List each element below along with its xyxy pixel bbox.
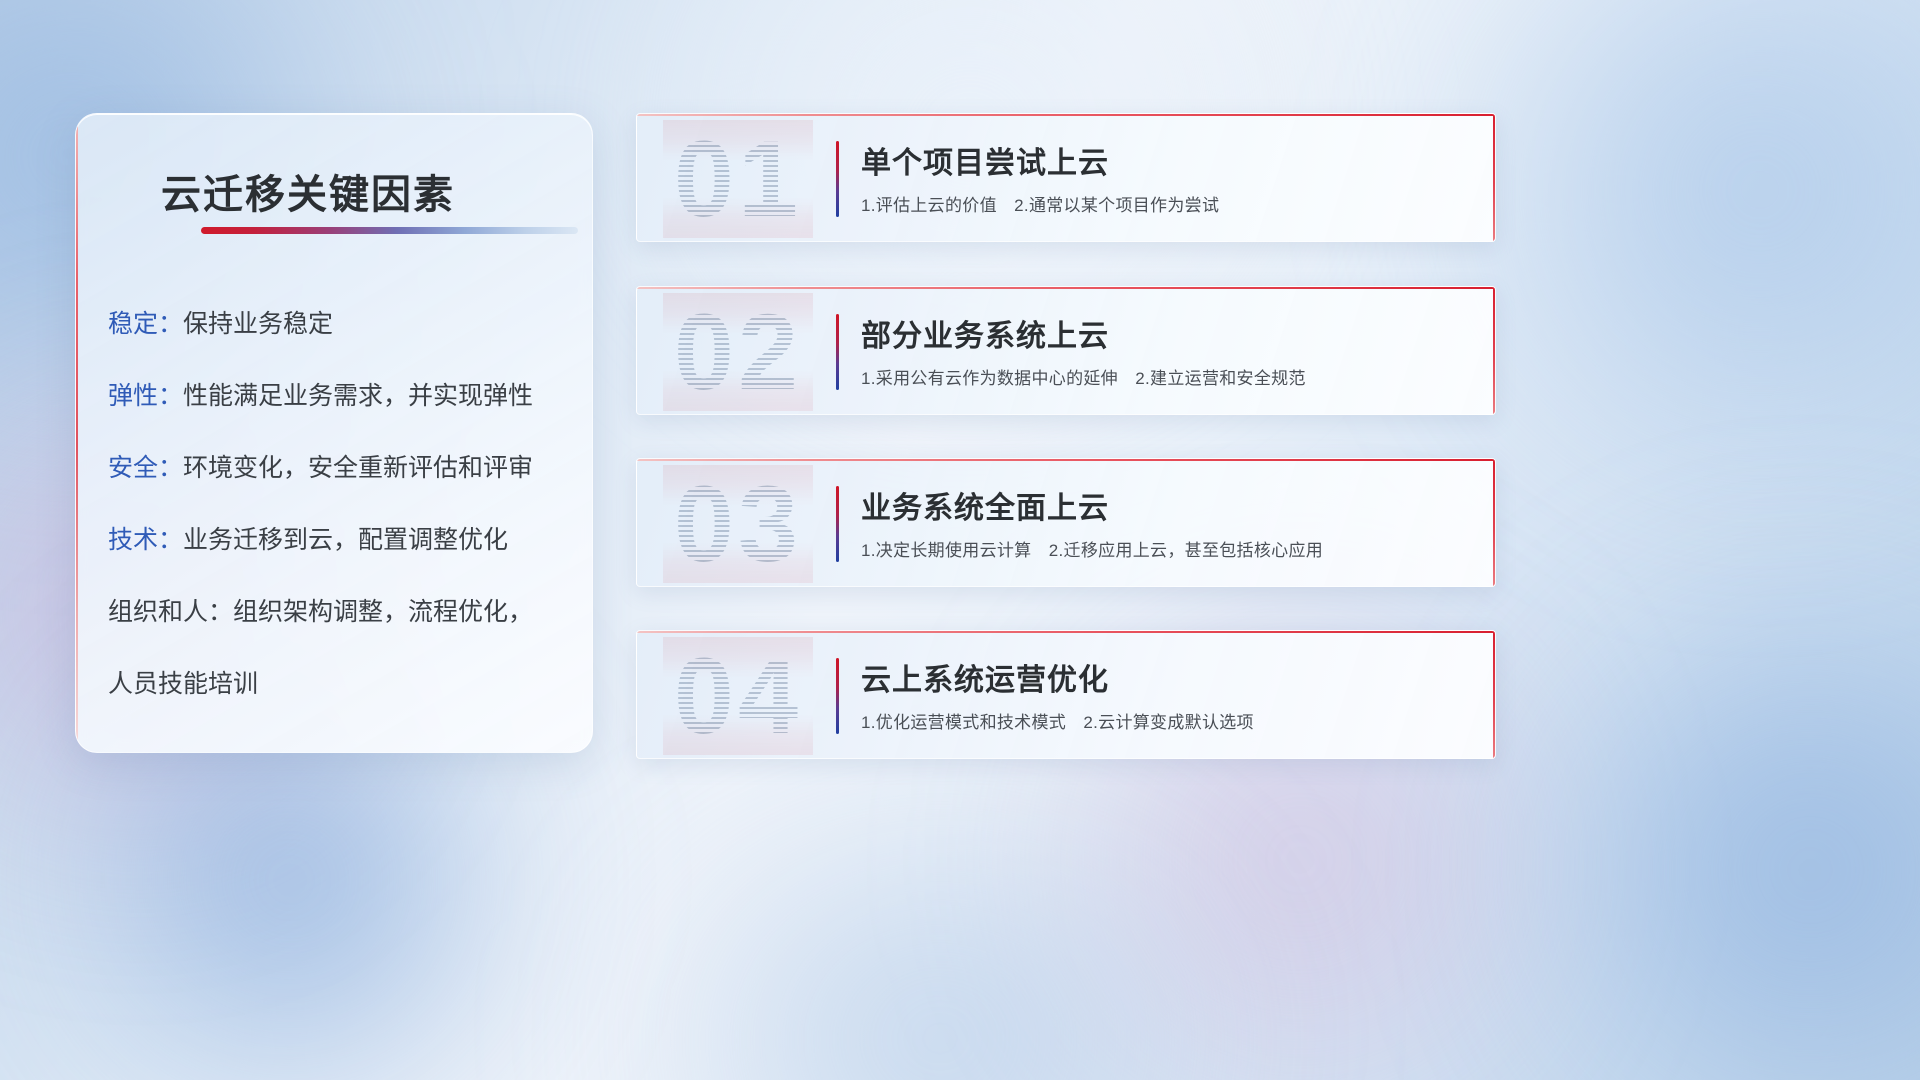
key-factor-row: 技术：业务迁移到云，配置调整优化 [108,528,566,553]
step-title: 业务系统全面上云 [861,483,1109,527]
slide-stage: 云迁移关键因素 稳定：保持业务稳定弹性：性能满足业务需求，并实现弹性安全：环境变… [0,0,1920,1080]
step-title: 云上系统运营优化 [861,655,1109,699]
step-card-02[interactable]: 02 部分业务系统上云 1.采用公有云作为数据中心的延伸 2.建立运营和安全规范 [636,286,1496,415]
step-description: 1.采用公有云作为数据中心的延伸 2.建立运营和安全规范 [861,364,1306,389]
step-title: 部分业务系统上云 [861,311,1109,355]
key-factor-value: 保持业务稳定 [183,310,333,338]
step-card-04[interactable]: 04 云上系统运营优化 1.优化运营模式和技术模式 2.云计算变成默认选项 [636,630,1496,759]
key-factor-value: 业务迁移到云，配置调整优化 [183,526,508,554]
key-factor-value: 环境变化，安全重新评估和评审 [183,454,533,482]
page-title: 云迁移关键因素 [161,162,455,220]
step-divider-bar [836,314,839,390]
key-factor-label: 安全： [108,454,183,482]
key-factor-label: 弹性： [108,382,183,410]
step-description: 1.优化运营模式和技术模式 2.云计算变成默认选项 [861,708,1254,733]
step-card-01[interactable]: 01 单个项目尝试上云 1.评估上云的价值 2.通常以某个项目作为尝试 [636,113,1496,242]
key-factors-list: 稳定：保持业务稳定弹性：性能满足业务需求，并实现弹性安全：环境变化，安全重新评估… [108,312,566,697]
step-number-glyph: 01 [663,120,813,238]
step-number-glyph: 04 [663,637,813,755]
key-factor-row: 安全：环境变化，安全重新评估和评审 [108,456,566,481]
title-underline-rule [201,227,578,234]
key-factor-value: 组织架构调整，流程优化， [233,598,533,626]
key-factor-row: 弹性：性能满足业务需求，并实现弹性 [108,384,566,409]
step-number-glyph: 03 [663,465,813,583]
step-divider-bar [836,141,839,217]
step-title: 单个项目尝试上云 [861,138,1109,182]
step-divider-bar [836,486,839,562]
key-factor-row: 组织和人：组织架构调整，流程优化， [108,600,566,625]
step-description: 1.评估上云的价值 2.通常以某个项目作为尝试 [861,191,1219,216]
key-factor-label: 技术： [108,526,183,554]
key-factor-label: 组织和人： [108,598,233,626]
key-factor-row: 人员技能培训 [108,672,566,697]
key-factor-label: 稳定： [108,310,183,338]
key-factor-value: 性能满足业务需求，并实现弹性 [183,382,533,410]
step-number-glyph: 02 [663,293,813,411]
step-card-03[interactable]: 03 业务系统全面上云 1.决定长期使用云计算 2.迁移应用上云，甚至包括核心应… [636,458,1496,587]
step-description: 1.决定长期使用云计算 2.迁移应用上云，甚至包括核心应用 [861,536,1323,561]
step-divider-bar [836,658,839,734]
key-factor-value: 人员技能培训 [108,670,258,698]
key-factor-row: 稳定：保持业务稳定 [108,312,566,337]
key-factors-card: 云迁移关键因素 稳定：保持业务稳定弹性：性能满足业务需求，并实现弹性安全：环境变… [75,113,593,753]
